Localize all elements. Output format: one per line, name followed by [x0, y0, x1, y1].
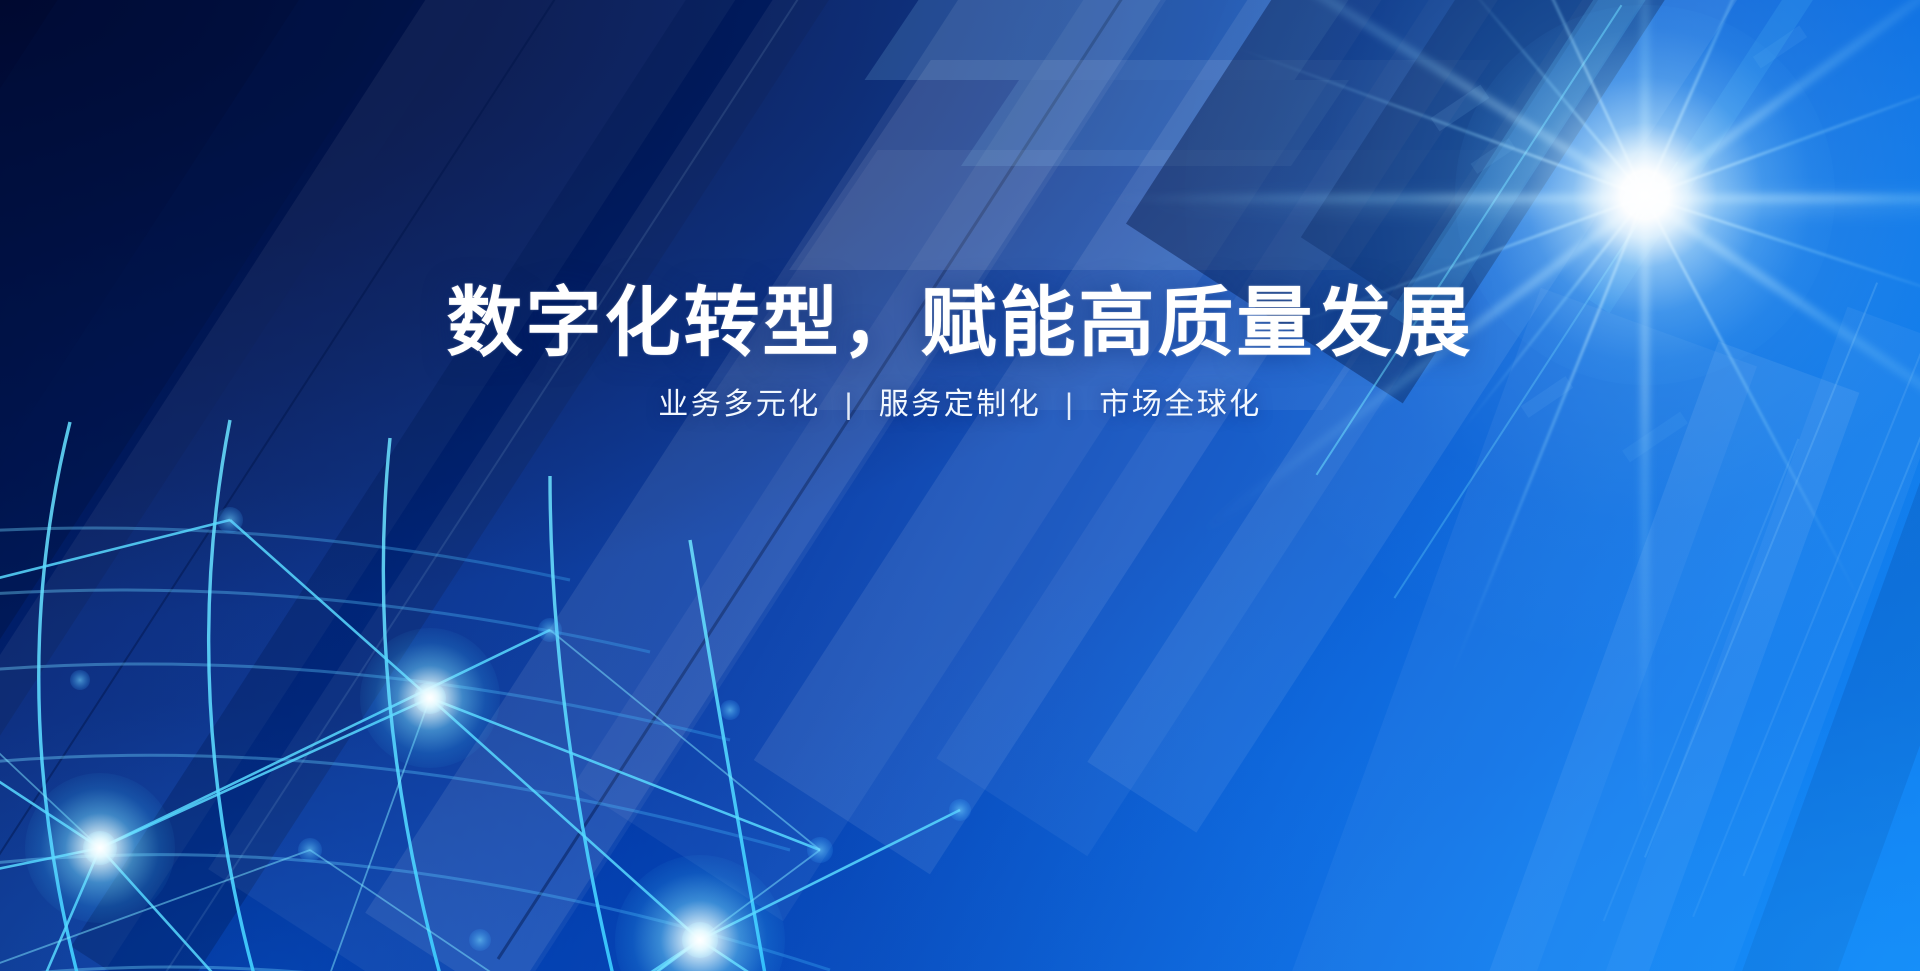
flare-ray-e — [1645, 195, 1920, 202]
flare-ray-nw2 — [1451, 0, 1646, 197]
network-node — [538, 618, 562, 642]
flare-ray-ssw — [1449, 196, 1647, 679]
subtitle-separator-2: | — [1052, 390, 1088, 420]
panel-lower-right-2 — [1411, 341, 1860, 971]
banner-canvas: 数字化转型，赋能高质量发展 业务多元化 | 服务定制化 | 市场全球化 — [0, 0, 1920, 971]
subtitle-item-3: 市场全球化 — [1099, 388, 1262, 421]
panel-bright-bar-3 — [789, 60, 1491, 270]
chip-1 — [1431, 85, 1490, 132]
flare-ray-w-wide — [1125, 195, 1645, 211]
flare-ray-nw — [1134, 0, 1647, 201]
network-node — [807, 837, 833, 863]
network-mesh-globe — [0, 380, 1070, 971]
chip-2 — [1471, 138, 1516, 174]
flare-ray-n — [1642, 0, 1649, 199]
network-node-bright — [414, 682, 446, 714]
subtitle-separator-1: | — [832, 390, 868, 420]
network-node-bright — [682, 922, 718, 958]
panel-dark-wedge-2 — [1301, 0, 1739, 303]
streak-line-4 — [1603, 439, 1800, 922]
subtitle-item-1: 业务多元化 — [658, 388, 821, 421]
network-node — [217, 507, 243, 533]
page-title: 数字化转型，赋能高质量发展 — [0, 286, 1920, 362]
subtitle-tagline: 业务多元化 | 服务定制化 | 市场全球化 — [0, 390, 1920, 420]
network-node — [720, 700, 740, 720]
flare-ray-nne — [1644, 0, 1809, 197]
chip-5 — [1753, 26, 1807, 69]
network-node — [469, 929, 491, 951]
subtitle-item-2: 服务定制化 — [879, 388, 1042, 421]
flare-ray-wnw — [1231, 45, 1645, 198]
hero-text-block: 数字化转型，赋能高质量发展 业务多元化 | 服务定制化 | 市场全球化 — [0, 286, 1920, 420]
network-node-bright — [83, 831, 117, 865]
flare-ray-nnw — [1445, 0, 1646, 197]
flare-ray-ene — [1644, 65, 1920, 198]
network-node — [949, 799, 971, 821]
panel-bright-bar-2 — [961, 80, 1349, 166]
panel-cyan-sliver-2 — [1588, 0, 1839, 313]
flare-ray-e-wide — [1645, 195, 1920, 211]
panel-bright-bar-1 — [865, 0, 1376, 80]
flare-ray-w — [1085, 195, 1645, 202]
network-node — [70, 670, 90, 690]
network-node — [298, 838, 322, 862]
flare-ray-ne — [1643, 0, 1920, 201]
